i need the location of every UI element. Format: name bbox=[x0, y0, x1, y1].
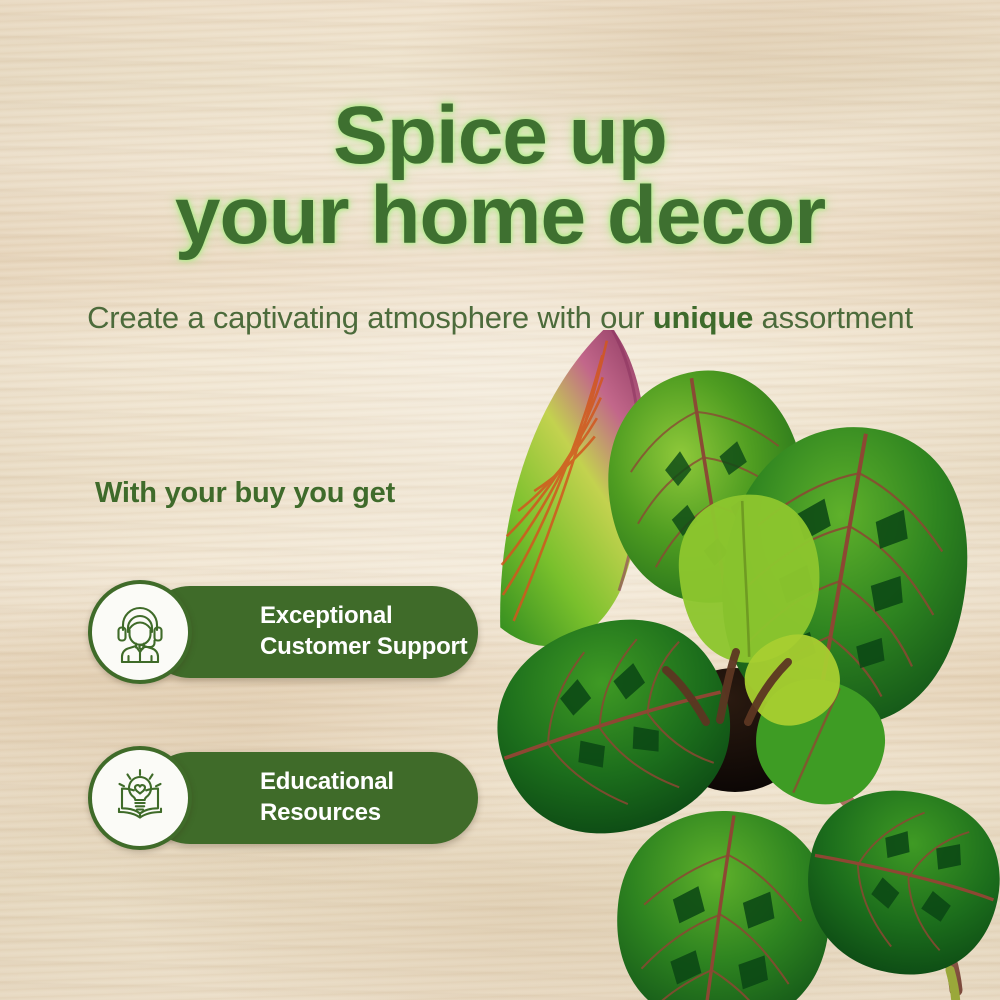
feature-item-educational-resources: Educational Resources bbox=[88, 746, 478, 850]
subtitle-text-after: assortment bbox=[753, 300, 913, 335]
page-subtitle: Create a captivating atmosphere with our… bbox=[0, 300, 1000, 336]
page-title: Spice up your home decor bbox=[0, 96, 1000, 257]
subtitle-text-before: Create a captivating atmosphere with our bbox=[87, 300, 653, 335]
promo-poster: Spice up your home decor Create a captiv… bbox=[0, 0, 1000, 1000]
headset-support-agent-icon bbox=[88, 580, 192, 684]
feature-item-customer-support: Exceptional Customer Support bbox=[88, 580, 478, 684]
features-heading: With your buy you get bbox=[95, 477, 395, 510]
open-book-lightbulb-icon bbox=[88, 746, 192, 850]
feature-label: Exceptional Customer Support bbox=[144, 601, 467, 662]
feature-pill: Exceptional Customer Support bbox=[144, 586, 478, 678]
subtitle-emphasis: unique bbox=[653, 300, 753, 335]
feature-pill: Educational Resources bbox=[144, 752, 478, 844]
